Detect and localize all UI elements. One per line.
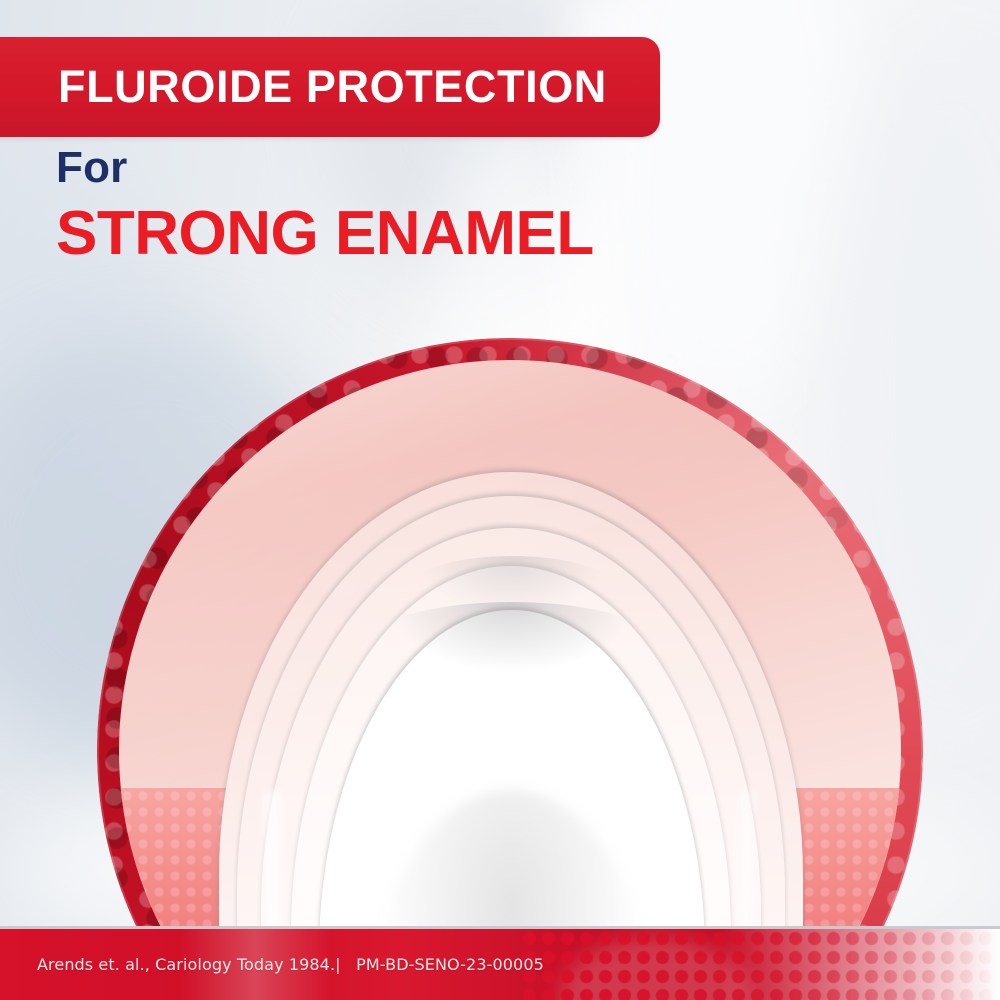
headline-main: STRONG ENAMEL (56, 203, 594, 265)
headline-banner: FLUROIDE PROTECTION (0, 37, 660, 137)
headline-kicker: For (56, 146, 127, 190)
footer-citation-text: Arends et. al., Cariology Today 1984.| P… (37, 929, 544, 1000)
poster-canvas: FLUROIDE PROTECTION For STRONG ENAMEL (0, 0, 1000, 1000)
footer-bar: Arends et. al., Cariology Today 1984.| P… (0, 926, 1000, 1000)
occlusal-cusp-shadow (371, 602, 653, 682)
footer-halftone-dots (520, 929, 1000, 1000)
banner-label: FLUROIDE PROTECTION (58, 61, 607, 113)
